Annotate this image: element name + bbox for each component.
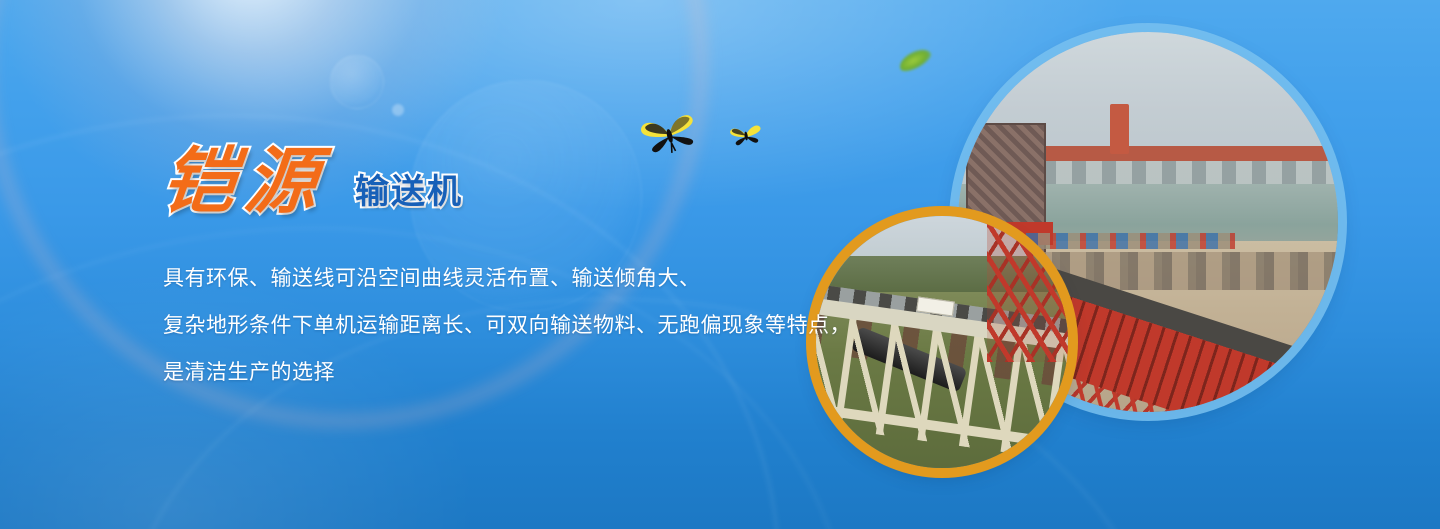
description-line-3: 是清洁生产的选择 <box>163 349 923 396</box>
floating-leaf-icon <box>896 45 934 75</box>
butterfly-large-icon <box>637 110 701 156</box>
brand-name: 铠源 <box>159 145 331 217</box>
butterfly-small-icon <box>729 122 763 148</box>
hero-banner: 铠源 输送机 具有环保、输送线可沿空间曲线灵活布置、输送倾角大、 复杂地形条件下… <box>0 0 1440 529</box>
lens-flare-bubble-icon <box>330 55 384 109</box>
description-line-2: 复杂地形条件下单机运输距离长、可双向输送物料、无跑偏现象等特点， <box>163 302 923 349</box>
brand-product: 输送机 <box>355 175 463 209</box>
lens-flare-dot-icon <box>392 104 404 116</box>
description-line-1: 具有环保、输送线可沿空间曲线灵活布置、输送倾角大、 <box>163 255 923 302</box>
banner-description: 具有环保、输送线可沿空间曲线灵活布置、输送倾角大、 复杂地形条件下单机运输距离长… <box>163 255 923 396</box>
banner-title: 铠源 输送机 <box>163 145 463 217</box>
